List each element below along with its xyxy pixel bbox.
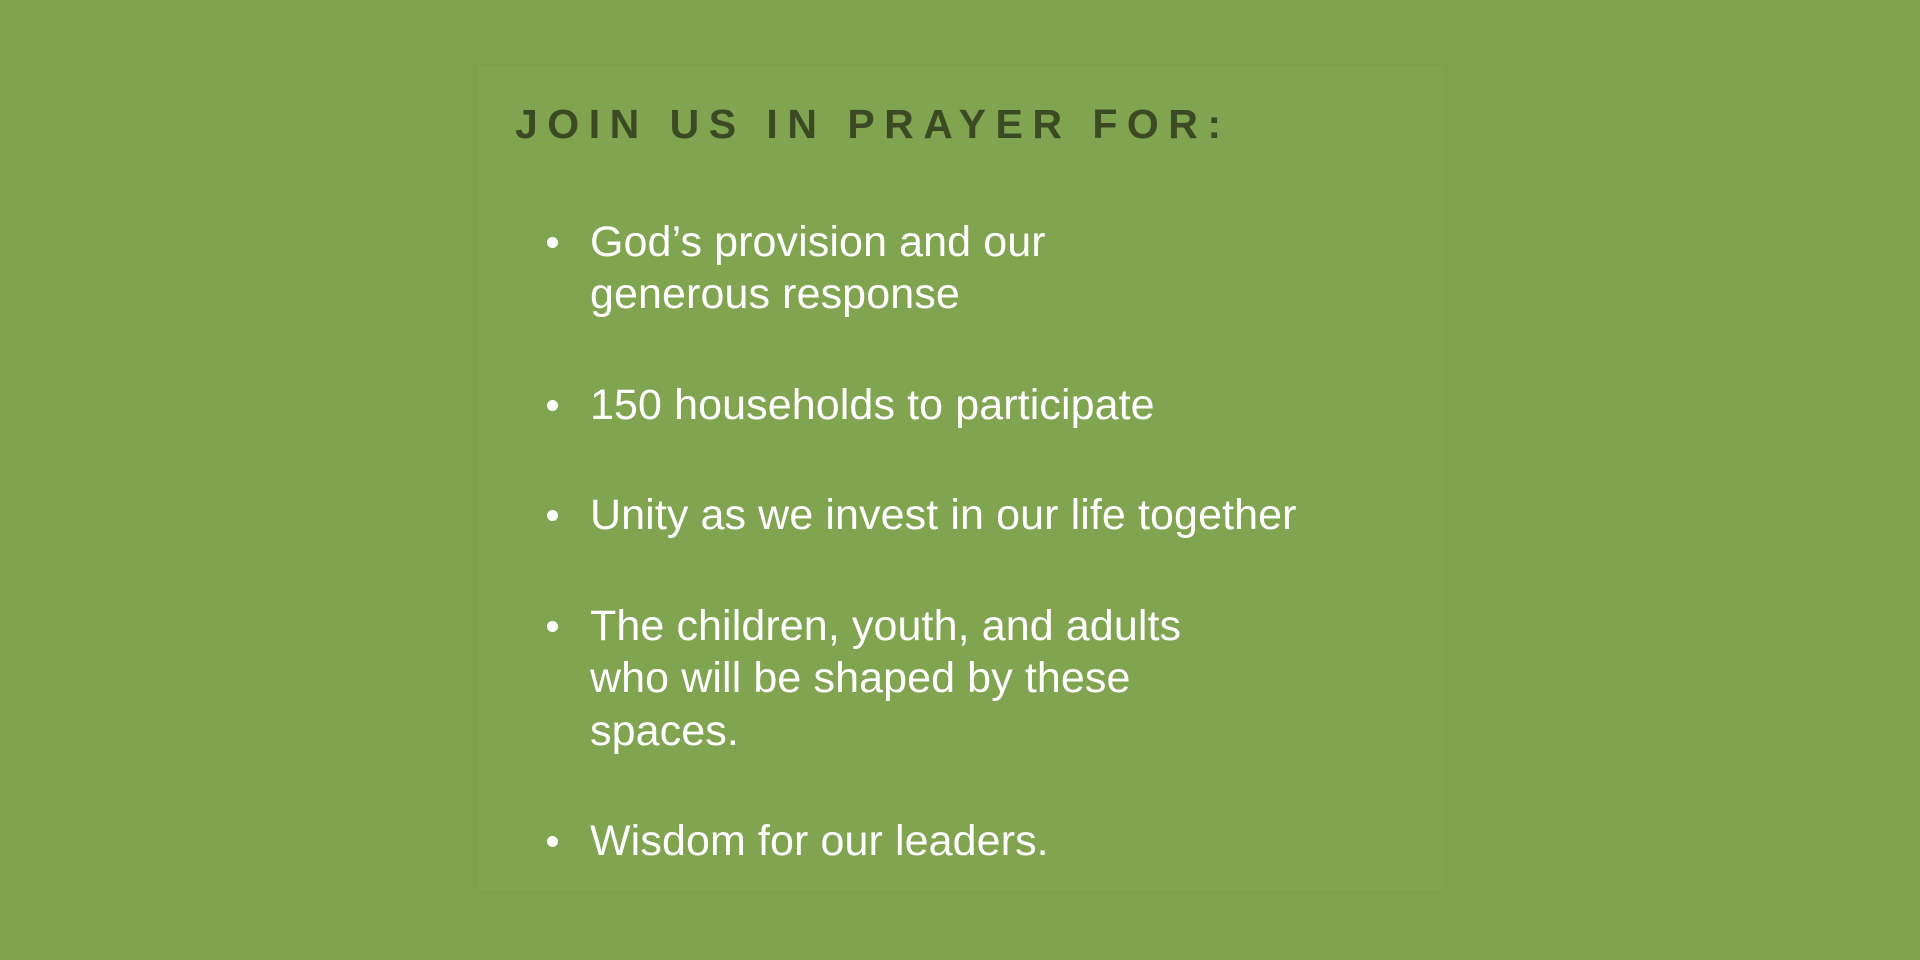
bullet-dot-icon <box>547 237 558 248</box>
list-item: 150 households to participate <box>533 379 1423 431</box>
bullet-dot-icon <box>547 836 558 847</box>
list-item: God’s provision and our generous respons… <box>533 216 1423 321</box>
list-item: Wisdom for our leaders. <box>533 815 1423 867</box>
bullet-dot-icon <box>547 400 558 411</box>
list-item-label: Wisdom for our leaders. <box>590 815 1423 867</box>
prayer-card-panel: JOIN US IN PRAYER FOR: God’s provision a… <box>478 66 1444 890</box>
list-item-label: 150 households to participate <box>590 379 1423 431</box>
prayer-request-list: God’s provision and our generous respons… <box>533 216 1423 868</box>
bullet-dot-icon <box>547 510 558 521</box>
list-item-label: Unity as we invest in our life together <box>590 489 1423 541</box>
list-item-label: The children, youth, and adults who will… <box>590 600 1270 757</box>
page-title: JOIN US IN PRAYER FOR: <box>515 102 1231 147</box>
list-item: The children, youth, and adults who will… <box>533 600 1423 757</box>
bullet-dot-icon <box>547 621 558 632</box>
prayer-graphic-canvas: JOIN US IN PRAYER FOR: God’s provision a… <box>0 0 1920 960</box>
list-item: Unity as we invest in our life together <box>533 489 1423 541</box>
list-item-label: God’s provision and our generous respons… <box>590 216 1060 321</box>
